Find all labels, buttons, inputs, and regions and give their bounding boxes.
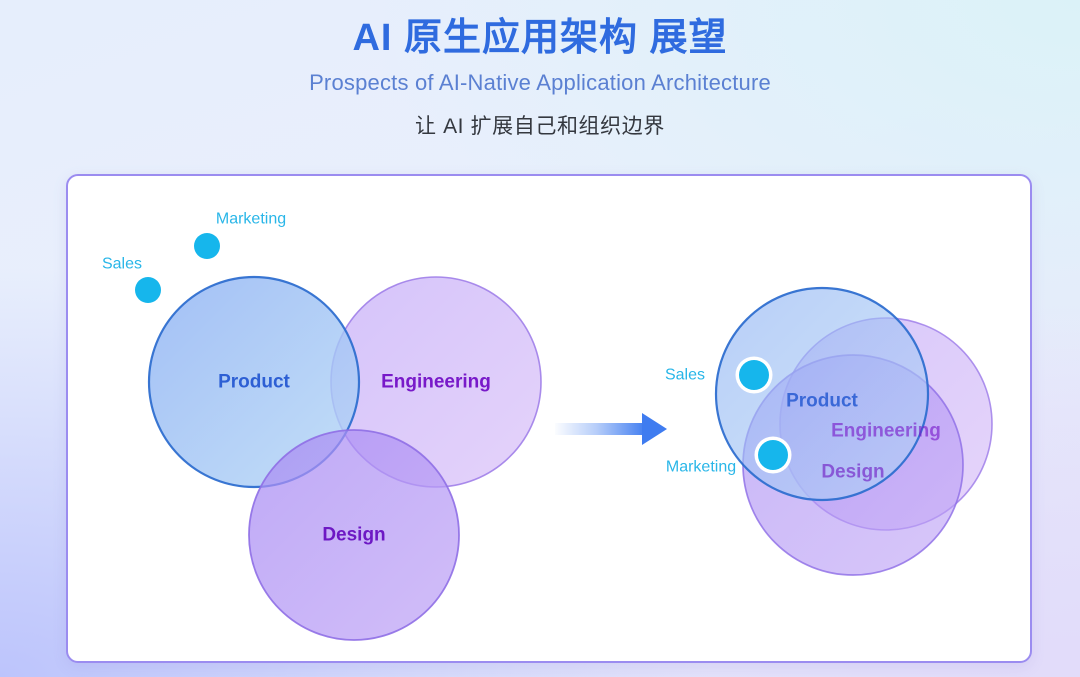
right-dot-marketing[interactable] (758, 440, 788, 470)
right-venn-group: Product Engineering Design Sales Marketi… (665, 288, 992, 575)
left-label-engineering: Engineering (381, 372, 491, 393)
slide-header: AI 原生应用架构 展望 Prospects of AI-Native Appl… (0, 0, 1080, 140)
left-label-design: Design (322, 525, 385, 546)
transform-arrow (555, 413, 667, 445)
slide-root: AI 原生应用架构 展望 Prospects of AI-Native Appl… (0, 0, 1080, 677)
page-subtitle-en: Prospects of AI-Native Application Archi… (0, 63, 1080, 96)
right-label-engineering: Engineering (831, 421, 941, 442)
diagram-card: Product Engineering Design Sales Marketi… (66, 174, 1032, 663)
page-title: AI 原生应用架构 展望 (0, 0, 1080, 63)
right-label-design: Design (821, 462, 884, 483)
left-dot-marketing[interactable] (194, 233, 220, 259)
left-label-marketing: Marketing (216, 211, 286, 228)
left-label-product: Product (218, 372, 290, 393)
right-label-marketing: Marketing (666, 459, 736, 476)
venn-diagram-canvas: Product Engineering Design Sales Marketi… (68, 176, 1030, 661)
right-dot-sales[interactable] (739, 360, 769, 390)
right-label-sales: Sales (665, 367, 705, 384)
left-label-sales: Sales (102, 256, 142, 273)
left-venn-group: Product Engineering Design Sales Marketi… (102, 211, 541, 641)
page-tagline: 让 AI 扩展自己和组织边界 (0, 96, 1080, 140)
right-label-product: Product (786, 391, 858, 412)
left-dot-sales[interactable] (135, 277, 161, 303)
